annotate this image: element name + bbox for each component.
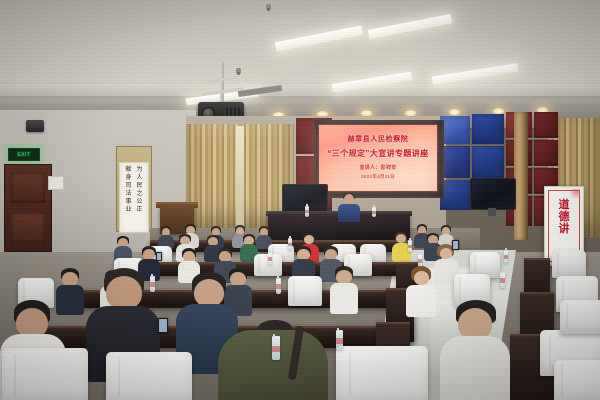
attendee-ponytail <box>406 266 436 314</box>
attendee <box>256 226 272 245</box>
smartphone-recording[interactable] <box>452 240 459 250</box>
wood-column-right <box>514 112 528 240</box>
monitor-stand-right <box>488 208 496 216</box>
screen-date-line: 2021年4月11日 <box>361 174 395 180</box>
projection-screen: 赫章县人民检察院 “三个规定”大宣讲专题讲座 宣讲人：彭祥安 2021年4月11… <box>318 124 438 192</box>
water-bottle <box>408 240 412 252</box>
exit-sign-label: EXIT <box>17 152 30 158</box>
water-bottle <box>372 207 376 217</box>
banner-char-3: 讲 <box>559 223 570 235</box>
smartphone[interactable] <box>156 252 162 261</box>
water-bottle <box>276 278 281 294</box>
screen-organization: 赫章县人民检察院 <box>348 136 409 145</box>
chair <box>106 352 192 400</box>
chair <box>560 300 600 334</box>
attendee <box>330 266 358 310</box>
smartphone[interactable] <box>158 318 168 333</box>
speaker-presenter <box>338 194 360 220</box>
water-bottle <box>305 206 309 217</box>
attendee-foreground-right <box>440 300 510 400</box>
calligraphy-scroll: 献 身 司 法 事 业 为 人 民 之 公 正 <box>119 162 149 233</box>
speaker-torso <box>338 204 360 222</box>
water-bottle <box>268 252 272 265</box>
attendee <box>292 246 315 278</box>
screen-topic: “三个规定”大宣讲专题讲座 <box>327 149 428 159</box>
screen-speaker-line: 宣讲人：彭祥安 <box>359 164 396 171</box>
chair <box>288 276 322 306</box>
wall-plaque <box>48 176 64 190</box>
chair <box>336 346 428 400</box>
chair <box>2 348 88 400</box>
calligraphy-column-right: 献 身 司 法 事 业 <box>124 166 133 232</box>
water-bottle <box>336 330 343 350</box>
water-bottle <box>500 272 505 288</box>
chair <box>552 250 586 278</box>
curtain-gap <box>236 126 244 230</box>
display-monitor-right <box>470 178 516 210</box>
sprinkler-head-icon <box>266 4 271 10</box>
water-bottle <box>272 336 280 360</box>
attendee-foreground-olive-coat <box>218 320 328 400</box>
attendee <box>114 236 132 258</box>
projector-mount-pole <box>220 62 224 104</box>
sprinkler-head-icon <box>236 68 241 74</box>
conference-hall-photo: EXIT 献 身 司 法 事 业 为 人 民 之 公 正 <box>0 0 600 400</box>
calligraphy-column-left: 为 人 民 之 公 正 <box>135 166 144 232</box>
water-bottle <box>504 250 508 263</box>
wall-speaker-box <box>26 120 44 132</box>
exit-door[interactable] <box>4 164 52 252</box>
attendee <box>158 226 174 244</box>
exit-sign: EXIT <box>8 148 40 161</box>
chair <box>554 360 600 400</box>
